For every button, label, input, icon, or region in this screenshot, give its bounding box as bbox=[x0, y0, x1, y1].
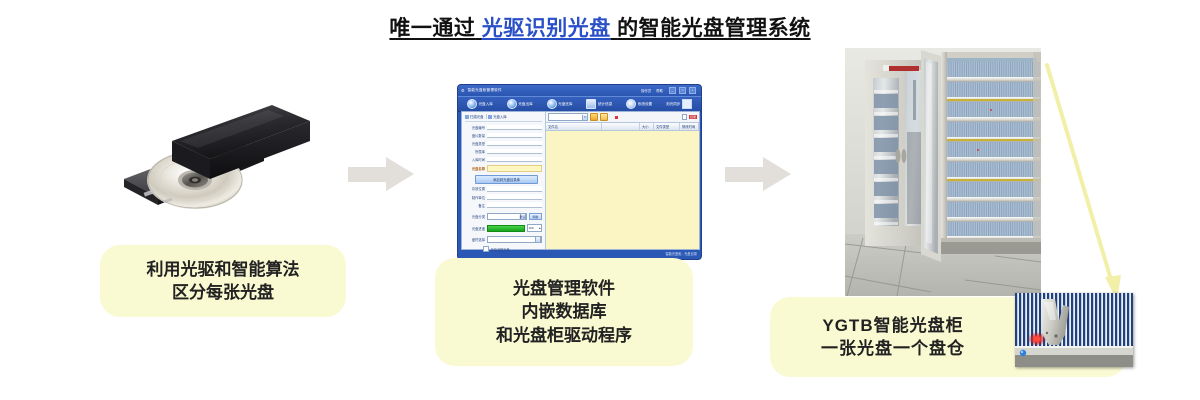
toolbar-disc-out-label: 光盘出库 bbox=[518, 102, 532, 107]
arrow-shaft-2 bbox=[725, 167, 765, 182]
title-part-1: 唯一通过 bbox=[389, 17, 475, 40]
arrow-shaft bbox=[348, 167, 388, 182]
app-logo-icon: ⚙ bbox=[461, 88, 465, 93]
field-producer[interactable]: 制作单位 bbox=[465, 194, 542, 200]
view-toggle-checkbox-icon[interactable] bbox=[682, 114, 688, 120]
callout-middle: 光盘管理软件 内嵌数据库 和光盘柜驱动程序 bbox=[435, 258, 693, 366]
field-storage-location-input[interactable] bbox=[487, 186, 542, 192]
field-disc-type-label: 光盘类型 bbox=[465, 141, 485, 146]
col-filename[interactable]: 文件名 bbox=[546, 123, 602, 130]
add-to-catalog-button[interactable]: 添加到光盘目录库 bbox=[475, 175, 538, 184]
callout-right-line-1: YGTB智能光盘柜 bbox=[822, 314, 963, 337]
title-part-2: 的智能光盘管理系统 bbox=[617, 17, 811, 40]
app-right-panel: F: 目录 文件名 大小 文件类型 修改时间 bbox=[546, 112, 699, 249]
statistics-icon bbox=[586, 99, 596, 109]
col-size[interactable]: 大小 bbox=[640, 123, 654, 130]
toolbar-settings-label: 系统设置 bbox=[638, 102, 652, 107]
file-list-header: 文件名 大小 文件类型 修改时间 bbox=[546, 122, 699, 131]
field-disc-count-input[interactable] bbox=[487, 133, 542, 139]
disc-cabinet-illustration bbox=[845, 48, 1041, 296]
app-window-title: 智能光盘柜管理软件 bbox=[468, 88, 502, 93]
app-body: 扫描光盘 光盘入库 光盘编号 盘片数量 光盘类型 所属 bbox=[461, 111, 700, 250]
disc-category-value: 默认 bbox=[519, 215, 525, 219]
status-text: 智能光盘柜 - 光盘目录 bbox=[665, 251, 697, 256]
view-toggle[interactable]: 目录 bbox=[682, 114, 697, 120]
dvd-drive-illustration bbox=[112, 103, 318, 221]
field-remark[interactable]: 备注 bbox=[465, 202, 542, 208]
field-disc-category[interactable]: 光盘分类 默认 刷新 bbox=[465, 213, 542, 221]
field-intake-time-input[interactable] bbox=[487, 157, 542, 163]
titlebar-help[interactable]: 帮助 bbox=[656, 88, 663, 93]
app-tab-strip[interactable]: 扫描光盘 光盘入库 bbox=[465, 114, 542, 122]
field-disc-name-label: 光盘名称 bbox=[465, 166, 485, 171]
scan-disc-icon bbox=[465, 115, 469, 119]
field-producer-input[interactable] bbox=[487, 194, 542, 200]
toolbar-disc-return[interactable]: 光盘还库 bbox=[547, 99, 573, 109]
callout-left-line-2: 区分每张光盘 bbox=[172, 281, 274, 304]
disc-slot-closeup-photo bbox=[1015, 293, 1133, 367]
field-drive-letter-label: 盘符选择 bbox=[465, 237, 485, 242]
minimize-icon[interactable]: _ bbox=[669, 87, 676, 94]
tab-separator bbox=[486, 114, 487, 119]
external-dvd-drive-photo bbox=[112, 103, 318, 221]
field-disc-category-label: 光盘分类 bbox=[465, 214, 485, 219]
progress-bar bbox=[487, 225, 525, 232]
field-disc-name[interactable]: 光盘名称 bbox=[465, 165, 542, 172]
page-title: 唯一通过 光驱识别光盘 的智能光盘管理系统 bbox=[0, 12, 1200, 42]
arrow-head bbox=[386, 157, 414, 191]
toolbar-disc-return-label: 光盘还库 bbox=[558, 102, 572, 107]
field-disc-id[interactable]: 光盘编号 bbox=[465, 125, 542, 131]
folder-icon[interactable] bbox=[590, 113, 598, 121]
field-remark-input[interactable] bbox=[487, 202, 542, 208]
app-left-panel: 扫描光盘 光盘入库 光盘编号 盘片数量 光盘类型 所属 bbox=[462, 112, 546, 249]
field-storage-location-label: 存放位置 bbox=[465, 186, 485, 191]
toolbar-disc-in-label: 光盘入库 bbox=[478, 102, 492, 107]
progress-spinner[interactable]: 100 ▴ bbox=[527, 224, 542, 232]
field-disc-type[interactable]: 光盘类型 bbox=[465, 141, 542, 147]
callout-left-line-1: 利用光驱和智能算法 bbox=[147, 258, 300, 281]
spinner-arrows-icon[interactable]: ▴ bbox=[539, 226, 541, 230]
maximize-icon[interactable]: □ bbox=[679, 87, 686, 94]
field-disc-type-input[interactable] bbox=[487, 141, 542, 147]
callout-left: 利用光驱和智能算法 区分每张光盘 bbox=[100, 245, 346, 317]
tab-disc-in-label: 光盘入库 bbox=[493, 114, 507, 119]
folder-open-icon[interactable] bbox=[600, 113, 608, 121]
field-library-input[interactable] bbox=[487, 149, 542, 155]
col-filetype[interactable]: 文件类型 bbox=[654, 123, 680, 130]
file-list-body[interactable] bbox=[546, 131, 699, 249]
field-intake-time[interactable]: 入库时间 bbox=[465, 157, 542, 163]
view-toggle-label: 目录 bbox=[689, 115, 697, 119]
connector-line bbox=[1020, 55, 1150, 305]
field-drive-letter[interactable]: 盘符选择 bbox=[465, 236, 542, 244]
callout-middle-line-1: 光盘管理软件 bbox=[513, 277, 615, 300]
app-statusbar: 智能光盘柜 - 光盘目录 bbox=[461, 250, 700, 257]
field-disc-id-label: 光盘编号 bbox=[465, 125, 485, 130]
field-disc-count[interactable]: 盘片数量 bbox=[465, 133, 542, 139]
disc-in-small-icon bbox=[488, 115, 492, 119]
flow-arrow-1 bbox=[348, 157, 414, 191]
field-intake-time-label: 入库时间 bbox=[465, 157, 485, 162]
callout-middle-line-2: 内嵌数据库 bbox=[522, 300, 607, 323]
app-titlebar: ⚙ 智能光盘柜管理软件 操作员 帮助 _ □ × bbox=[458, 85, 701, 96]
field-disc-progress-label: 光盘进度 bbox=[465, 226, 485, 231]
path-select[interactable]: F: bbox=[548, 113, 588, 121]
field-remark-label: 备注 bbox=[465, 203, 485, 208]
toolbar-disc-out[interactable]: 光盘出库 bbox=[507, 99, 533, 109]
callout-right-line-2: 一张光盘一个盘仓 bbox=[821, 337, 965, 360]
callout-connector-arrow bbox=[1020, 55, 1150, 305]
progress-value: 100 bbox=[529, 226, 534, 230]
field-disc-count-label: 盘片数量 bbox=[465, 133, 485, 138]
arrow-head-2 bbox=[763, 157, 791, 191]
title-highlight: 光驱识别光盘 bbox=[482, 17, 611, 40]
drive-letter-select[interactable] bbox=[487, 236, 542, 244]
app-toolbar[interactable]: 光盘入库 光盘出库 光盘还库 统计信息 系统设置 刻光同步 bbox=[458, 96, 701, 112]
gear-icon bbox=[626, 99, 636, 109]
field-disc-id-input[interactable] bbox=[487, 125, 542, 131]
callout-middle-line-3: 和光盘柜驱动程序 bbox=[496, 324, 632, 347]
tab-scan-disc-label: 扫描光盘 bbox=[470, 114, 484, 119]
sync-icon bbox=[682, 99, 692, 109]
disc-in-icon bbox=[467, 99, 477, 109]
path-value: F: bbox=[584, 115, 587, 119]
toolbar-disc-in[interactable]: 光盘入库 bbox=[467, 99, 493, 109]
tab-disc-in[interactable]: 光盘入库 bbox=[488, 114, 507, 119]
record-icon[interactable] bbox=[615, 116, 618, 119]
close-icon[interactable]: × bbox=[689, 87, 696, 94]
col-spacer bbox=[602, 123, 640, 130]
disc-return-icon bbox=[547, 99, 557, 109]
field-library-label: 所属库 bbox=[465, 149, 485, 154]
toolbar-sync-label: 刻光同步 bbox=[666, 102, 680, 107]
disc-out-icon bbox=[507, 99, 517, 109]
toolbar-sync[interactable]: 刻光同步 bbox=[666, 99, 692, 109]
disc-management-software-window[interactable]: ⚙ 智能光盘柜管理软件 操作员 帮助 _ □ × 光盘入库 光盘出库 光盘还库 … bbox=[457, 84, 702, 260]
field-storage-location[interactable]: 存放位置 bbox=[465, 186, 542, 192]
field-library[interactable]: 所属库 bbox=[465, 149, 542, 155]
field-producer-label: 制作单位 bbox=[465, 195, 485, 200]
disc-cabinet-photo bbox=[845, 48, 1041, 296]
window-controls[interactable]: _ □ × bbox=[669, 87, 696, 94]
field-disc-progress: 光盘进度 100 ▴ bbox=[465, 224, 542, 232]
col-modified[interactable]: 修改时间 bbox=[680, 123, 699, 130]
disc-slot-closeup-illustration bbox=[1015, 293, 1133, 367]
chevron-down-icon-2[interactable] bbox=[535, 236, 541, 243]
tab-scan-disc[interactable]: 扫描光盘 bbox=[465, 114, 484, 119]
field-disc-name-input[interactable] bbox=[487, 165, 542, 172]
toolbar-statistics[interactable]: 统计信息 bbox=[586, 99, 612, 109]
toolbar-settings[interactable]: 系统设置 bbox=[626, 99, 652, 109]
app-path-toolbar[interactable]: F: 目录 bbox=[546, 112, 699, 122]
toolbar-statistics-label: 统计信息 bbox=[598, 102, 612, 107]
titlebar-operator[interactable]: 操作员 bbox=[641, 88, 651, 93]
refresh-button[interactable]: 刷新 bbox=[529, 213, 542, 221]
disc-category-select[interactable]: 默认 bbox=[487, 213, 527, 221]
flow-arrow-2 bbox=[725, 157, 791, 191]
